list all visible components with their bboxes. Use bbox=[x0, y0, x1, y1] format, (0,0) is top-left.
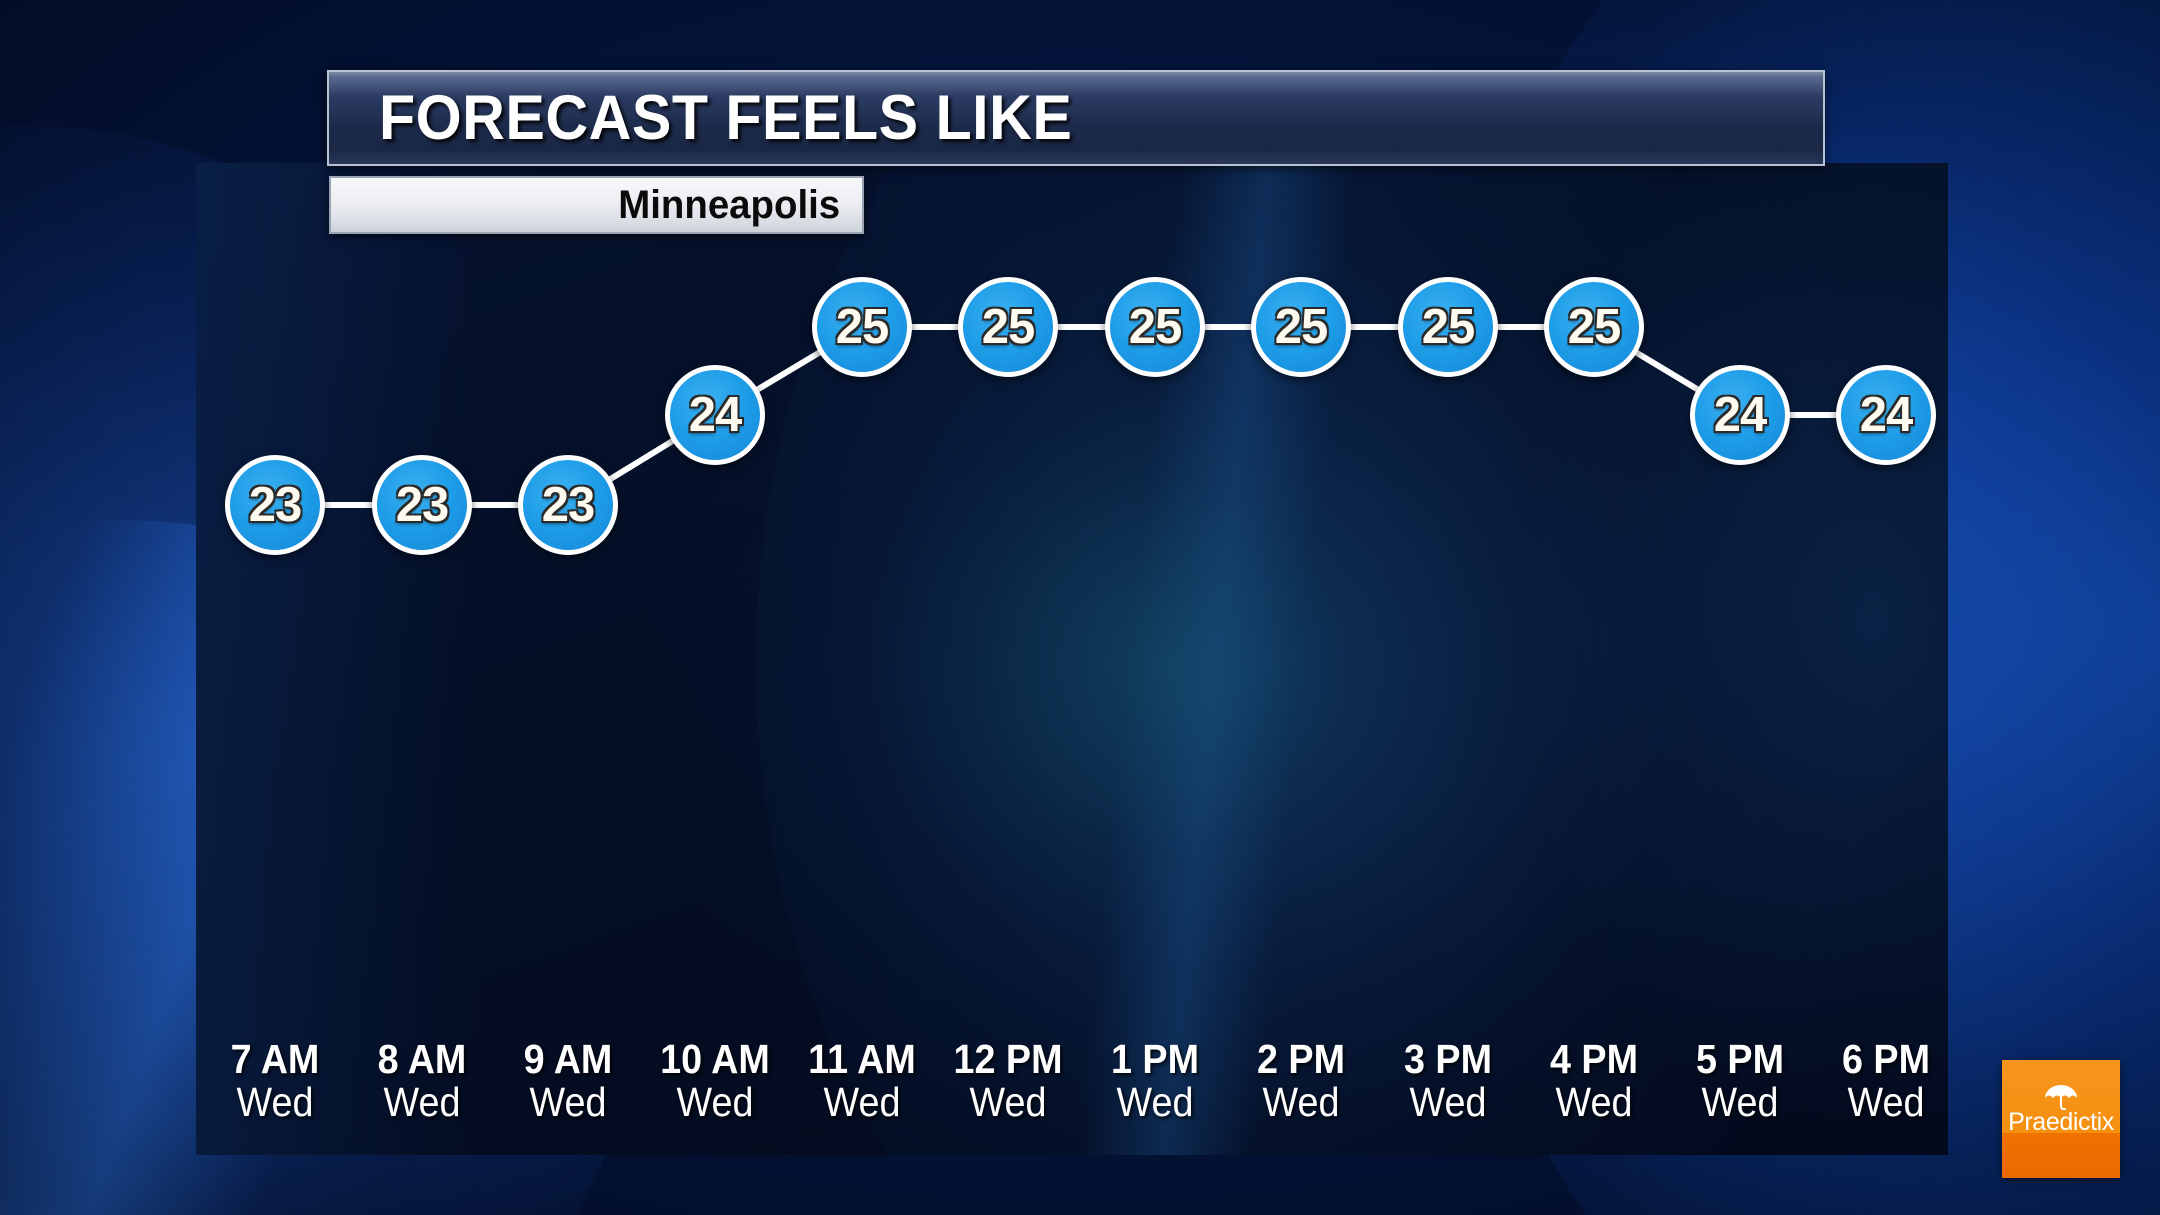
chart-panel bbox=[196, 163, 1948, 1155]
forecast-point-bubble[interactable]: 25 bbox=[812, 277, 912, 377]
city-bar: Minneapolis bbox=[329, 176, 864, 234]
forecast-point-bubble[interactable]: 25 bbox=[958, 277, 1058, 377]
forecast-point-bubble[interactable]: 23 bbox=[372, 455, 472, 555]
forecast-point-value: 25 bbox=[1422, 303, 1475, 352]
umbrella-icon bbox=[2002, 1084, 2120, 1110]
forecast-point-bubble[interactable]: 23 bbox=[518, 455, 618, 555]
forecast-point-value: 25 bbox=[982, 303, 1035, 352]
weather-forecast-graphic: 232323242525252525252424 7 AMWed8 AMWed9… bbox=[0, 0, 2160, 1215]
forecast-point-bubble[interactable]: 25 bbox=[1398, 277, 1498, 377]
forecast-point-bubble[interactable]: 25 bbox=[1544, 277, 1644, 377]
forecast-point-bubble[interactable]: 24 bbox=[665, 365, 765, 465]
praedictix-logo: Praedictix bbox=[2002, 1060, 2120, 1178]
forecast-point-value: 25 bbox=[836, 303, 889, 352]
forecast-point-value: 24 bbox=[1714, 391, 1767, 440]
forecast-point-value: 23 bbox=[542, 481, 595, 530]
forecast-point-bubble[interactable]: 25 bbox=[1105, 277, 1205, 377]
forecast-point-value: 23 bbox=[396, 481, 449, 530]
x-axis-label: 6 PMWed bbox=[1786, 1038, 1986, 1124]
forecast-point-bubble[interactable]: 24 bbox=[1690, 365, 1790, 465]
logo-wordmark: Praedictix bbox=[2002, 1108, 2120, 1137]
title-bar: FORECAST FEELS LIKE bbox=[327, 70, 1825, 166]
forecast-point-value: 25 bbox=[1129, 303, 1182, 352]
city-name: Minneapolis bbox=[618, 183, 840, 228]
forecast-point-value: 24 bbox=[1860, 391, 1913, 440]
x-axis-label-time: 6 PM bbox=[1794, 1038, 1978, 1081]
x-axis-label-day: Wed bbox=[1794, 1081, 1978, 1124]
forecast-point-bubble[interactable]: 25 bbox=[1251, 277, 1351, 377]
page-title: FORECAST FEELS LIKE bbox=[379, 82, 1072, 154]
forecast-point-value: 25 bbox=[1275, 303, 1328, 352]
forecast-point-bubble[interactable]: 23 bbox=[225, 455, 325, 555]
panel-arc-teal-glow bbox=[896, 403, 1416, 923]
forecast-point-value: 23 bbox=[249, 481, 302, 530]
forecast-point-value: 25 bbox=[1568, 303, 1621, 352]
panel-left-glow bbox=[196, 163, 476, 1155]
forecast-point-value: 24 bbox=[689, 391, 742, 440]
forecast-point-bubble[interactable]: 24 bbox=[1836, 365, 1936, 465]
